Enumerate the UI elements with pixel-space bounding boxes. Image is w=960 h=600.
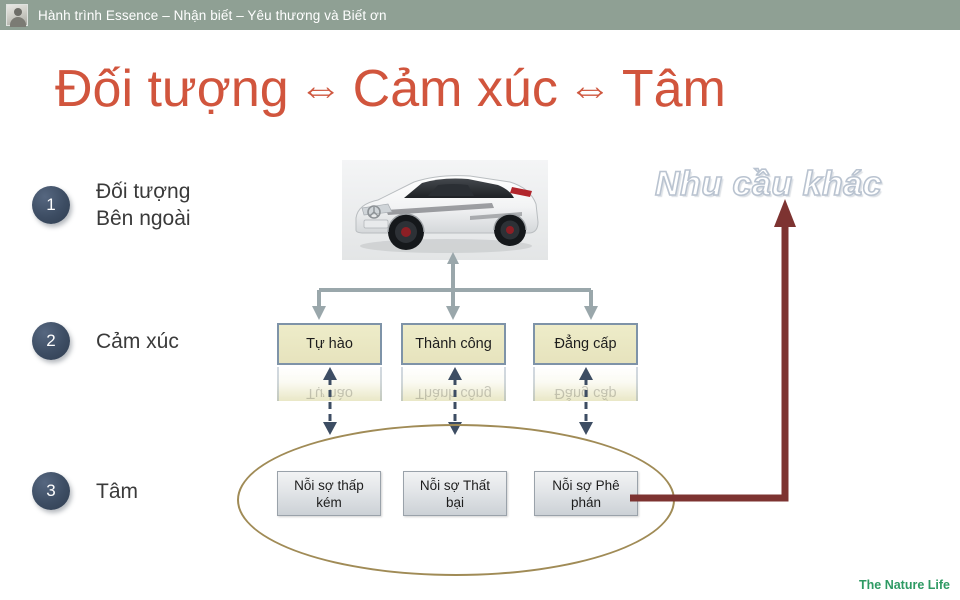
step-marker-2: 2 Cảm xúc xyxy=(32,322,179,360)
fear-box-1-line2: kém xyxy=(294,494,364,511)
bracket-connector xyxy=(255,250,675,330)
fear-box-3-line1: Nỗi sợ Phê xyxy=(552,477,619,494)
arrowhead-down-1 xyxy=(312,306,326,320)
slide-canvas: Hành trình Essence – Nhận biết – Yêu thư… xyxy=(0,0,960,600)
double-arrow-icon-1: ⇔ xyxy=(289,64,353,113)
step-label-3-line1: Tâm xyxy=(96,478,138,505)
page-title: Đối tượng⇔Cảm xúc⇔Tâm xyxy=(55,58,726,123)
step-label-1-line2: Bên ngoài xyxy=(96,205,191,232)
emotion-box-2[interactable]: Thành công xyxy=(401,323,506,365)
arrowhead-down-2 xyxy=(446,306,460,320)
step-badge-1: 1 xyxy=(32,186,70,224)
double-arrow-icon-2: ⇔ xyxy=(558,64,622,113)
arrowhead-up-to-car xyxy=(447,252,459,264)
step-badge-2: 2 xyxy=(32,322,70,360)
emotion-box-1[interactable]: Tự hào xyxy=(277,323,382,365)
step-label-3: Tâm xyxy=(96,478,138,505)
header-title: Hành trình Essence – Nhận biết – Yêu thư… xyxy=(38,8,387,23)
elbow-arrow-to-wordart xyxy=(630,185,810,515)
arrowhead-down-3 xyxy=(584,306,598,320)
title-part-2: Cảm xúc xyxy=(353,60,558,118)
step-label-1: Đối tượng Bên ngoài xyxy=(96,178,191,232)
dashed-double-arrow-1 xyxy=(319,366,341,436)
dashed-double-arrow-3 xyxy=(575,366,597,436)
emotion-box-3[interactable]: Đẳng cấp xyxy=(533,323,638,365)
white-mercedes-car-photo xyxy=(342,160,548,260)
step-marker-3: 3 Tâm xyxy=(32,472,138,510)
fear-box-3[interactable]: Nỗi sợ Phê phán xyxy=(534,471,638,516)
title-part-1: Đối tượng xyxy=(55,60,289,118)
fear-box-2-line2: bại xyxy=(420,494,490,511)
step-label-2: Cảm xúc xyxy=(96,328,179,355)
fear-box-3-line2: phán xyxy=(552,494,619,511)
title-part-3: Tâm xyxy=(622,60,726,118)
fear-box-1[interactable]: Nỗi sợ thấp kém xyxy=(277,471,381,516)
fear-box-2-line1: Nỗi sợ Thất xyxy=(420,477,490,494)
step-label-1-line1: Đối tượng xyxy=(96,178,191,205)
step-badge-3: 3 xyxy=(32,472,70,510)
step-label-2-line1: Cảm xúc xyxy=(96,328,179,355)
portrait-photo-icon xyxy=(6,4,28,26)
header-bar: Hành trình Essence – Nhận biết – Yêu thư… xyxy=(0,0,960,30)
fear-box-2[interactable]: Nỗi sợ Thất bại xyxy=(403,471,507,516)
fear-box-1-line1: Nỗi sợ thấp xyxy=(294,477,364,494)
step-marker-1: 1 Đối tượng Bên ngoài xyxy=(32,178,191,232)
wordart-nhu-cau-khac: Nhu cầu khác xyxy=(655,165,882,204)
car-illustration xyxy=(342,160,548,260)
footer-brand: The Nature Life xyxy=(859,578,950,592)
